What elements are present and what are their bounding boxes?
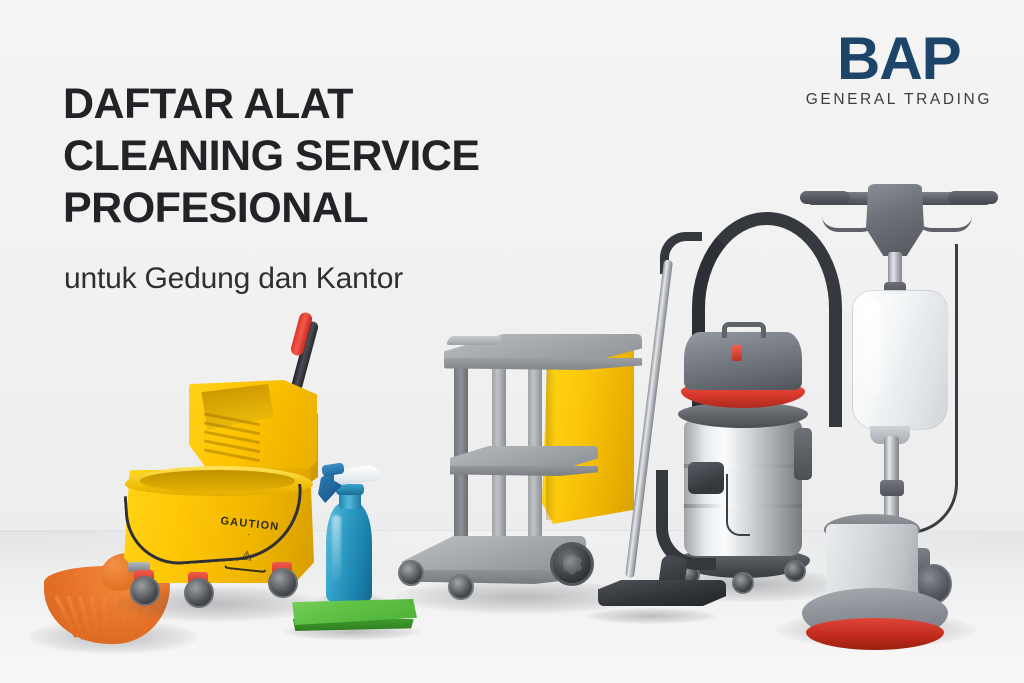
vacuum-hose-inlet-cuff: [688, 462, 724, 494]
logo-wordmark: BAP: [806, 30, 992, 88]
vacuum-motor-head: [684, 332, 802, 390]
polisher-grip-left: [800, 191, 850, 204]
polisher-safety-lever-right[interactable]: [916, 216, 972, 232]
polisher-shaft-clamp: [880, 480, 904, 496]
vacuum-caster-mid: [732, 572, 754, 594]
page-title: DAFTAR ALAT CLEANING SERVICE PROFESIONAL: [63, 78, 480, 234]
cart-front-caster-left: [398, 560, 424, 586]
cart-post-rear-left: [454, 362, 468, 544]
vacuum-power-switch[interactable]: [732, 345, 742, 361]
product-janitorial-cart: [396, 318, 646, 610]
cart-front-caster-right: [448, 574, 474, 600]
polisher-tank-highlight: [862, 300, 882, 396]
spray-bottle-highlight: [332, 515, 341, 581]
product-mop-bucket-wringer: GAUTION ⚠: [112, 318, 327, 608]
vacuum-power-cord: [726, 474, 750, 536]
vacuum-floor-nozzle: [598, 580, 726, 606]
cart-top-shelf-lip: [446, 336, 503, 345]
product-floor-polisher: [800, 178, 1000, 630]
cart-rear-wheel: [550, 542, 594, 586]
warning-symbol: ⚠: [226, 547, 267, 564]
warning-triangle-icon: ⚠: [223, 531, 271, 573]
poster-canvas: DAFTAR ALAT CLEANING SERVICE PROFESIONAL…: [0, 0, 1024, 683]
product-spray-bottle: [318, 457, 384, 605]
bucket-caster-right: [268, 568, 298, 598]
vacuum-carry-handle: [722, 322, 766, 338]
cart-bag-fold: [546, 352, 556, 520]
brand-logo: BAP GENERAL TRADING: [806, 30, 992, 109]
logo-tagline: GENERAL TRADING: [806, 91, 992, 109]
page-subtitle: untuk Gedung dan Kantor: [64, 262, 403, 296]
bucket-caster-left: [130, 576, 160, 606]
polisher-upper-shaft: [888, 252, 902, 286]
bucket-caster-mid: [184, 578, 214, 608]
polisher-grip-right: [948, 191, 998, 204]
